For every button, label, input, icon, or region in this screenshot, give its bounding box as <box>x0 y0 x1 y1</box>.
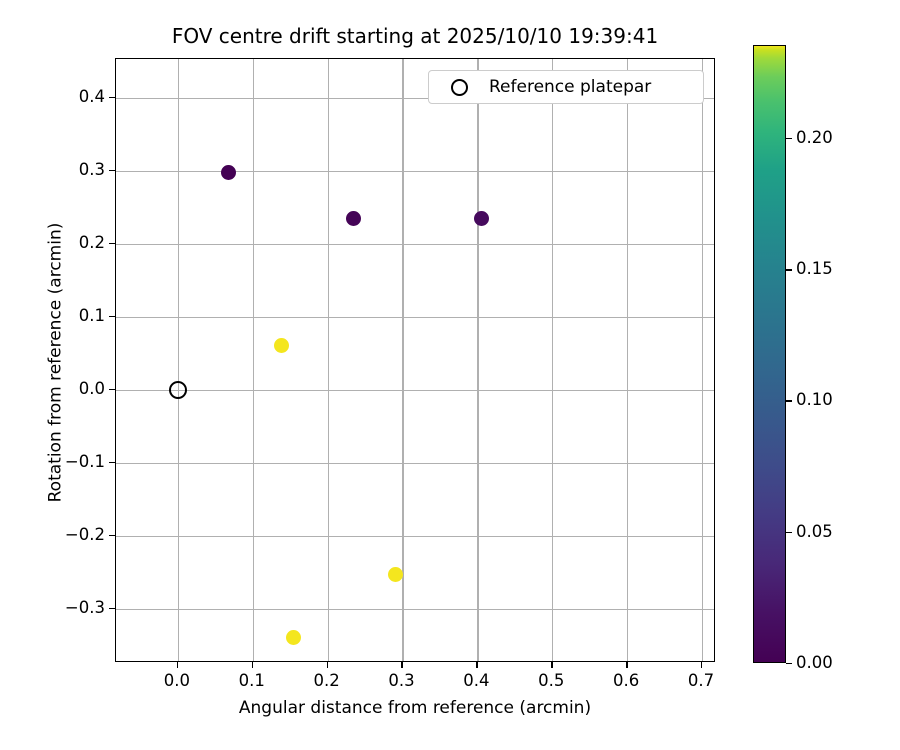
y-axis-tick-label: 0.1 <box>25 306 105 326</box>
colorbar-tick <box>786 138 792 139</box>
y-axis-tick <box>109 243 115 244</box>
y-axis-tick <box>109 462 115 463</box>
legend: Reference platepar <box>428 70 704 104</box>
colorbar-tick <box>786 532 792 533</box>
x-axis-tick <box>327 662 328 668</box>
gridline-horizontal <box>116 317 714 318</box>
x-axis-tick <box>401 662 402 668</box>
scatter-point <box>346 211 361 226</box>
y-axis-tick-label: 0.4 <box>25 87 105 107</box>
x-axis-tick-label: 0.3 <box>361 671 441 691</box>
y-axis-tick-label: −0.1 <box>25 452 105 472</box>
y-axis-tick-label: 0.2 <box>25 233 105 253</box>
gridline-vertical <box>178 59 179 661</box>
legend-marker-wrap <box>429 79 489 96</box>
gridline-horizontal <box>116 536 714 537</box>
x-axis-tick-label: 0.7 <box>661 671 741 691</box>
y-axis-tick <box>109 170 115 171</box>
x-axis-tick-label: 0.2 <box>287 671 367 691</box>
x-axis-tick <box>551 662 552 668</box>
page-title: FOV centre drift starting at 2025/10/10 … <box>115 24 715 48</box>
x-axis-tick-label: 0.0 <box>137 671 217 691</box>
y-axis-tick <box>109 389 115 390</box>
plot-axes <box>115 58 715 662</box>
colorbar-tick-label: 0.00 <box>796 653 833 673</box>
y-axis-tick <box>109 535 115 536</box>
scatter-point <box>274 338 289 353</box>
reference-platepar-marker <box>169 381 187 399</box>
matplotlib-figure: FOV centre drift starting at 2025/10/10 … <box>0 0 900 750</box>
colorbar-tick-label: 0.20 <box>796 128 833 148</box>
y-axis-tick-label: 0.3 <box>25 160 105 180</box>
y-axis-tick-label: −0.2 <box>25 525 105 545</box>
gridline-vertical <box>477 59 478 661</box>
gridline-vertical <box>328 59 329 661</box>
x-axis-tick <box>252 662 253 668</box>
gridline-horizontal <box>116 244 714 245</box>
x-axis-tick <box>626 662 627 668</box>
y-axis-label: Rotation from reference (arcmin) <box>46 61 67 665</box>
colorbar-tick-label: 0.15 <box>796 259 833 279</box>
x-axis-tick-label: 0.5 <box>511 671 591 691</box>
gridline-vertical <box>402 59 403 661</box>
plot-area <box>116 59 714 661</box>
x-axis-tick <box>701 662 702 668</box>
gridline-vertical <box>627 59 628 661</box>
gridline-vertical <box>552 59 553 661</box>
gridline-horizontal <box>116 171 714 172</box>
gridline-horizontal <box>116 609 714 610</box>
gridline-horizontal <box>116 463 714 464</box>
x-axis-tick-label: 0.1 <box>212 671 292 691</box>
y-axis-tick <box>109 316 115 317</box>
scatter-point <box>221 165 236 180</box>
open-circle-icon <box>451 79 468 96</box>
scatter-point <box>474 211 489 226</box>
x-axis-tick <box>476 662 477 668</box>
y-axis-tick-label: −0.3 <box>25 598 105 618</box>
gridline-vertical <box>253 59 254 661</box>
y-axis-tick-label: 0.0 <box>25 379 105 399</box>
colorbar-tick <box>786 269 792 270</box>
colorbar-gradient <box>753 45 786 663</box>
colorbar-tick-label: 0.10 <box>796 390 833 410</box>
scatter-point <box>286 630 301 645</box>
x-axis-tick-label: 0.6 <box>586 671 666 691</box>
colorbar-tick <box>786 663 792 664</box>
y-axis-tick <box>109 608 115 609</box>
y-axis-tick <box>109 97 115 98</box>
gridline-horizontal <box>116 390 714 391</box>
legend-entry-label: Reference platepar <box>489 77 651 97</box>
colorbar-tick-label: 0.05 <box>796 522 833 542</box>
x-axis-tick-label: 0.4 <box>436 671 516 691</box>
x-axis-label: Angular distance from reference (arcmin) <box>115 698 715 719</box>
colorbar-tick <box>786 400 792 401</box>
x-axis-tick <box>177 662 178 668</box>
gridline-vertical <box>702 59 703 661</box>
scatter-point <box>388 567 403 582</box>
